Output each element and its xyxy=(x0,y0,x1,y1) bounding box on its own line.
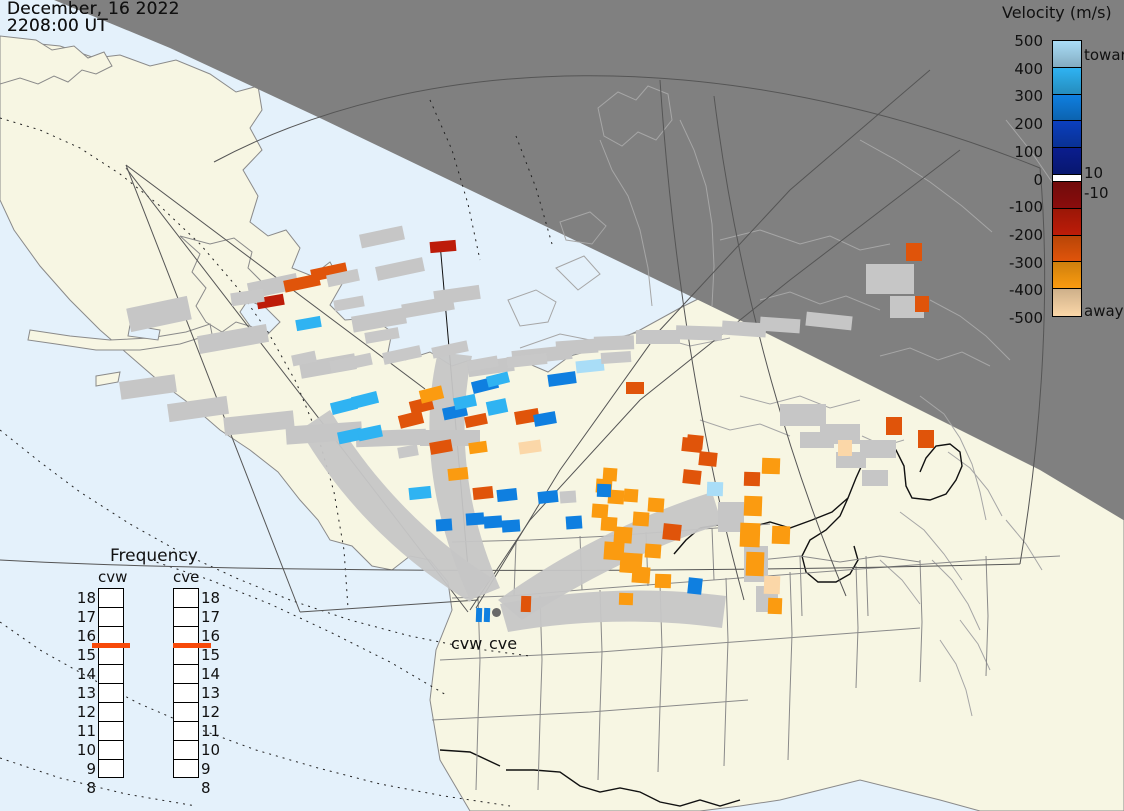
colorbar-tick-500: 500 xyxy=(1014,32,1043,50)
velocity-colorbar: Velocity (m/s) 5004003002001000-100-200-… xyxy=(1000,0,1124,340)
velocity-cell xyxy=(626,382,644,394)
velocity-cell xyxy=(915,296,929,312)
ground-scatter-cell xyxy=(359,226,405,249)
velocity-cell xyxy=(687,577,703,594)
frequency-cell xyxy=(174,646,198,665)
colorbar-gradient xyxy=(1052,40,1082,317)
frequency-cell xyxy=(174,722,198,741)
frequency-cell xyxy=(99,665,123,684)
velocity-cell xyxy=(486,398,508,416)
velocity-cell xyxy=(686,434,703,450)
frequency-tick-16: 16 xyxy=(72,627,96,645)
frequency-cell xyxy=(99,646,123,665)
colorbar-segment xyxy=(1053,121,1081,148)
ground-scatter-cell xyxy=(351,307,407,332)
frequency-cell xyxy=(99,608,123,627)
velocity-cell xyxy=(624,489,639,503)
colorbar-segment xyxy=(1053,148,1081,175)
velocity-cell xyxy=(698,451,717,467)
ground-scatter-cell xyxy=(433,285,481,305)
frequency-tick-9: 9 xyxy=(201,760,225,778)
colorbar-label-toward: toward xyxy=(1084,46,1124,64)
velocity-cell xyxy=(484,608,490,622)
colorbar-tick-neg500: -500 xyxy=(1009,309,1043,327)
frequency-tick-11: 11 xyxy=(72,722,96,740)
frequency-cell xyxy=(174,760,198,779)
velocity-cell xyxy=(682,469,701,485)
frequency-cell xyxy=(174,703,198,722)
frequency-tick-16: 16 xyxy=(201,627,225,645)
frequency-cell xyxy=(174,665,198,684)
colorbar-segment xyxy=(1053,68,1081,95)
colorbar-side-labels: toward10-10away xyxy=(1084,28,1124,328)
ground-scatter-cell xyxy=(601,351,632,364)
velocity-cell xyxy=(613,526,632,543)
velocity-cell xyxy=(484,515,503,528)
colorbar-tick-300: 300 xyxy=(1014,87,1043,105)
colorbar-tick-200: 200 xyxy=(1014,115,1043,133)
colorbar-tick-100: 100 xyxy=(1014,143,1043,161)
ground-scatter-cell xyxy=(223,410,294,435)
colorbar-tick-neg300: -300 xyxy=(1009,254,1043,272)
frequency-cell xyxy=(99,760,123,779)
frequency-tick-15: 15 xyxy=(201,646,225,664)
ground-scatter-cell xyxy=(167,396,229,422)
ground-scatter-cell xyxy=(556,339,599,356)
ground-scatter-cell xyxy=(594,335,634,350)
velocity-cell xyxy=(592,503,609,518)
velocity-cell xyxy=(472,486,493,500)
velocity-cell xyxy=(838,440,852,456)
colorbar-tick-labels: 5004003002001000-100-200-300-400-500 xyxy=(999,28,1047,328)
frequency-tick-12: 12 xyxy=(201,703,225,721)
frequency-tick-11: 11 xyxy=(201,722,225,740)
velocity-cell xyxy=(906,243,922,261)
frequency-tick-18: 18 xyxy=(201,589,225,607)
colorbar-segment xyxy=(1053,182,1081,209)
velocity-cell xyxy=(295,316,322,331)
frequency-cell xyxy=(99,703,123,722)
velocity-cell xyxy=(764,576,781,595)
velocity-cell xyxy=(744,472,760,487)
ground-scatter-cell xyxy=(800,432,834,448)
colorbar-segment xyxy=(1053,262,1081,289)
velocity-cell xyxy=(597,484,611,497)
velocity-cell xyxy=(746,552,765,577)
velocity-cell xyxy=(521,596,532,612)
velocity-cell xyxy=(430,240,457,253)
velocity-cell xyxy=(603,468,618,482)
velocity-cell xyxy=(762,458,781,475)
ground-scatter-cell xyxy=(397,444,419,458)
colorbar-title: Velocity (m/s) xyxy=(1002,3,1124,22)
colorbar-label-away: away xyxy=(1084,302,1124,320)
velocity-cell xyxy=(655,574,671,589)
ground-scatter-cell xyxy=(560,490,577,503)
velocity-cell xyxy=(537,490,558,504)
ground-scatter-cell xyxy=(780,404,826,426)
velocity-cell xyxy=(648,497,665,512)
frequency-tick-15: 15 xyxy=(72,646,96,664)
ground-scatter-cell xyxy=(126,296,192,332)
frequency-tick-8: 8 xyxy=(72,779,96,797)
velocity-cell xyxy=(518,440,541,455)
velocity-cell xyxy=(351,391,379,409)
frequency-bar-cve xyxy=(173,588,199,778)
colorbar-tick-0: 0 xyxy=(1033,171,1043,189)
colorbar-tick-neg100: -100 xyxy=(1009,198,1043,216)
frequency-cell xyxy=(174,741,198,760)
frequency-tick-10: 10 xyxy=(201,741,225,759)
velocity-cell xyxy=(662,523,682,541)
ground-scatter-cell xyxy=(862,470,888,486)
frequency-legend: Frequency cvw18171615141312111098 cve181… xyxy=(84,546,244,786)
frequency-tick-14: 14 xyxy=(72,665,96,683)
velocity-cell xyxy=(502,519,521,532)
frequency-cell xyxy=(174,608,198,627)
ground-scatter-cell xyxy=(197,324,269,354)
radar-site-dot xyxy=(492,608,501,617)
velocity-cell xyxy=(466,512,485,525)
frequency-marker-cvw xyxy=(92,643,130,648)
timestamp-time: 2208:00 UT xyxy=(7,18,180,35)
velocity-cell xyxy=(768,598,783,614)
velocity-cell xyxy=(436,518,453,531)
ground-scatter-cell xyxy=(866,264,914,294)
frequency-tick-14: 14 xyxy=(201,665,225,683)
colorbar-segment xyxy=(1053,41,1081,68)
velocity-cell xyxy=(476,608,482,622)
frequency-tick-18: 18 xyxy=(72,589,96,607)
velocity-cell xyxy=(566,515,583,529)
ground-scatter-cell xyxy=(805,312,852,331)
frequency-cell xyxy=(99,722,123,741)
velocity-cell xyxy=(772,526,791,545)
ground-scatter-cell xyxy=(676,325,722,341)
frequency-tick-8: 8 xyxy=(201,779,225,797)
velocity-cell xyxy=(707,482,723,497)
velocity-cell xyxy=(645,543,662,558)
velocity-cell xyxy=(918,430,934,448)
velocity-cell xyxy=(447,467,468,481)
colorbar-segment xyxy=(1053,175,1081,182)
frequency-tick-10: 10 xyxy=(72,741,96,759)
ground-scatter-cell xyxy=(333,295,364,311)
velocity-cell xyxy=(740,523,761,548)
ground-scatter-cell xyxy=(119,374,177,400)
velocity-cell xyxy=(408,486,431,500)
colorbar-segment xyxy=(1053,289,1081,316)
colorbar-segment xyxy=(1053,95,1081,122)
frequency-tick-12: 12 xyxy=(72,703,96,721)
frequency-tick-17: 17 xyxy=(201,608,225,626)
velocity-cell xyxy=(547,371,576,387)
velocity-cell xyxy=(496,488,517,502)
colorbar-tick-400: 400 xyxy=(1014,60,1043,78)
ground-scatter-cell xyxy=(636,330,680,344)
frequency-legend-title: Frequency xyxy=(110,546,198,566)
colorbar-segment xyxy=(1053,236,1081,263)
frequency-tick-13: 13 xyxy=(72,684,96,702)
velocity-cell xyxy=(631,566,650,583)
frequency-tick-13: 13 xyxy=(201,684,225,702)
frequency-cell xyxy=(99,589,123,608)
frequency-tick-17: 17 xyxy=(72,608,96,626)
velocity-cell xyxy=(398,410,424,428)
frequency-bar-cvw xyxy=(98,588,124,778)
frequency-radar-name-cve: cve xyxy=(173,568,199,586)
colorbar-tick-neg200: -200 xyxy=(1009,226,1043,244)
frequency-cell xyxy=(174,684,198,703)
velocity-cell xyxy=(744,496,763,517)
colorbar-tick-neg400: -400 xyxy=(1009,281,1043,299)
frequency-cell xyxy=(99,741,123,760)
ground-scatter-cell xyxy=(760,317,801,334)
frequency-tick-9: 9 xyxy=(72,760,96,778)
timestamp-block: December, 16 2022 2208:00 UT xyxy=(7,1,180,35)
site-label-cvw: cvw xyxy=(451,634,482,653)
ground-scatter-cell xyxy=(718,502,744,532)
frequency-cell xyxy=(174,589,198,608)
velocity-cell xyxy=(633,511,650,526)
velocity-cell xyxy=(886,417,902,435)
colorbar-segment xyxy=(1053,209,1081,236)
frequency-radar-name-cvw: cvw xyxy=(98,568,127,586)
ground-scatter-cell xyxy=(382,345,422,365)
colorbar-label-neg-threshold: -10 xyxy=(1084,184,1109,202)
site-label-cve: cve xyxy=(489,634,517,653)
colorbar-label-pos-threshold: 10 xyxy=(1084,164,1103,182)
velocity-cell xyxy=(619,593,633,605)
frequency-cell xyxy=(99,684,123,703)
ground-scatter-cell xyxy=(375,257,425,281)
velocity-cell xyxy=(575,359,604,374)
radar-fan-plot: cvw cve December, 16 2022 2208:00 UT Vel… xyxy=(0,0,1124,811)
